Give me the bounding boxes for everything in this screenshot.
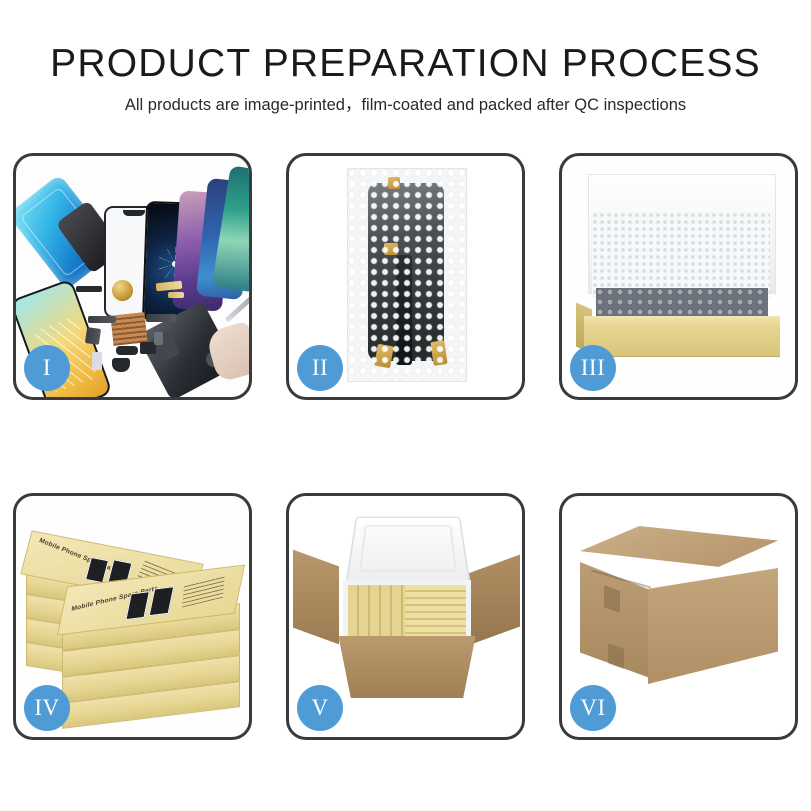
box-label-rear: Mobile Phone Spare Parts: [38, 537, 120, 575]
flex-cable-2: [85, 327, 101, 345]
product-preparation-infographic: PRODUCT PREPARATION PROCESS All products…: [0, 0, 811, 811]
gold-tab-top: [388, 177, 400, 189]
step-panel-1[interactable]: I: [13, 153, 252, 400]
display-flex-cable: [396, 255, 412, 365]
page-subtitle: All products are image-printed，film-coat…: [0, 97, 811, 114]
chip-part: [76, 286, 102, 292]
flex-cable-1: [88, 316, 116, 323]
sealed-carton: [580, 526, 778, 684]
step-badge-1: I: [24, 345, 70, 391]
step-panel-3[interactable]: III: [559, 153, 798, 400]
foam-sheet: [592, 212, 770, 298]
box-stack: Mobile Phone Spare Parts Mobile Phone Sp…: [24, 518, 242, 714]
step-panel-6[interactable]: VI: [559, 493, 798, 740]
flex-cable-3: [146, 314, 176, 322]
copper-grid-part: [111, 312, 148, 345]
header: PRODUCT PREPARATION PROCESS All products…: [0, 0, 811, 114]
carton-flap-left: [293, 550, 339, 645]
gold-tab-bottom-left: [374, 344, 394, 368]
sim-tray: [92, 352, 102, 370]
steps-grid: I II: [13, 153, 798, 753]
carton-right-face: [648, 568, 778, 684]
small-module-1: [116, 346, 138, 355]
step-badge-6: VI: [570, 685, 616, 731]
step-badge-3: III: [570, 345, 616, 391]
gold-tab-bottom-right: [430, 340, 447, 366]
box-front-panel: [584, 324, 780, 357]
bubble-wrap-bag: [347, 168, 467, 382]
gold-boxes-second-row: [405, 585, 466, 639]
foam-tray: [343, 580, 471, 644]
box-spec-lines-front: [182, 576, 225, 608]
gold-connector: [168, 292, 184, 298]
step-panel-2[interactable]: II: [286, 153, 525, 400]
step-panel-5[interactable]: V: [286, 493, 525, 740]
carton-flap-right: [468, 555, 520, 646]
carton-body: [329, 636, 485, 698]
step-badge-4: IV: [24, 685, 70, 731]
camera-module: [154, 332, 163, 345]
page-title: PRODUCT PREPARATION PROCESS: [0, 44, 811, 83]
step-badge-5: V: [297, 685, 343, 731]
foam-lid: [345, 516, 470, 583]
gold-tab-mid: [384, 243, 398, 255]
step-panel-4[interactable]: Mobile Phone Spare Parts Mobile Phone Sp…: [13, 493, 252, 740]
gold-coil-part: [112, 280, 133, 301]
speaker-part: [112, 358, 130, 372]
step-badge-2: II: [297, 345, 343, 391]
